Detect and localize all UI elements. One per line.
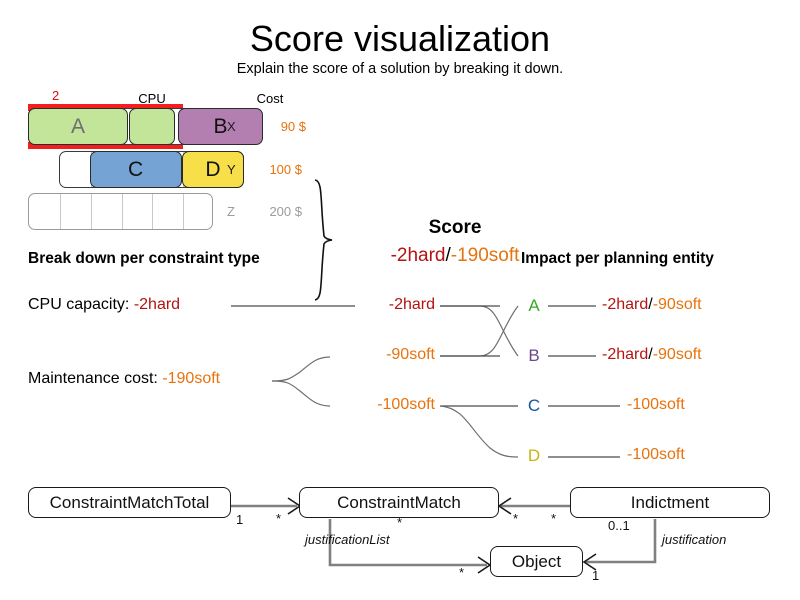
entity-impact-d-soft: -100soft (627, 446, 685, 463)
constraint-maintenance-cost-name: Maintenance cost: (28, 370, 162, 387)
entity-label-c: C (524, 396, 544, 416)
machine-bar-z (28, 193, 213, 230)
entity-impact-a-hard: -2hard (602, 296, 648, 313)
process-c[interactable]: C (90, 151, 182, 188)
entity-impact-d: -100soft (627, 446, 685, 464)
entity-impact-a: -2hard/-90soft (602, 296, 702, 314)
process-a[interactable]: A (28, 108, 128, 145)
constraint-cpu-capacity-name: CPU capacity: (28, 296, 134, 313)
constraint-maintenance-cost-score: -190soft (162, 370, 220, 387)
uml-class-constraint-match[interactable]: ConstraintMatch (299, 487, 499, 518)
uml-class-object[interactable]: Object (490, 546, 583, 577)
uml-role-justification: justification (662, 532, 726, 547)
constraint-cpu-capacity: CPU capacity: -2hard (28, 296, 180, 314)
process-a-overflow[interactable] (129, 108, 175, 145)
page-subtitle: Explain the score of a solution by break… (0, 60, 800, 78)
overload-count-label: 2 (52, 88, 59, 103)
machine-cost-x: 90 $ (252, 119, 306, 134)
machine-cost-y: 100 $ (248, 162, 302, 177)
entity-label-a: A (524, 296, 544, 316)
uml-multiplicity-cm-object-source: * (397, 515, 402, 530)
match-total-maintenance-100: -100soft (305, 396, 435, 414)
machine-cost-z: 200 $ (248, 204, 302, 219)
uml-multiplicity-cmt-target: * (276, 511, 281, 526)
uml-class-indictment[interactable]: Indictment (570, 487, 770, 518)
score-label: Score (330, 216, 580, 240)
cost-column-header: Cost (235, 91, 305, 106)
match-total-cpu-capacity: -2hard (305, 296, 435, 314)
uml-multiplicity-indictment-object-source: 0..1 (608, 518, 630, 533)
constraint-cpu-capacity-score: -2hard (134, 296, 180, 313)
machine-name-x: X (227, 119, 236, 134)
entity-label-d: D (524, 446, 544, 466)
entity-impact-b: -2hard/-90soft (602, 346, 702, 364)
entity-impact-b-soft: -90soft (653, 346, 702, 363)
breakdown-section-heading: Break down per constraint type (28, 250, 260, 268)
entity-impact-b-hard: -2hard (602, 346, 648, 363)
page-title: Score visualization (0, 18, 800, 60)
impact-section-heading: Impact per planning entity (521, 250, 714, 268)
machine-name-z: Z (227, 204, 235, 219)
score-hard-value: -2hard (391, 245, 446, 266)
entity-label-b: B (524, 346, 544, 366)
uml-multiplicity-indictment-object-target: 1 (592, 568, 599, 583)
uml-role-justification-list: justificationList (305, 532, 390, 547)
computers-panel: CPU Cost 2 A B X 90 $ C D Y 100 $ (0, 80, 520, 230)
uml-multiplicity-indictment-source: * (551, 511, 556, 526)
match-total-maintenance-90: -90soft (305, 346, 435, 364)
process-b[interactable]: B (178, 108, 263, 145)
score-soft-value: -190soft (451, 245, 520, 266)
uml-multiplicity-cmt-source: 1 (236, 512, 243, 527)
machine-cell-grid-z (29, 194, 212, 229)
machine-name-y: Y (227, 162, 236, 177)
entity-impact-a-soft: -90soft (653, 296, 702, 313)
uml-multiplicity-cm-object-target: * (459, 565, 464, 580)
constraint-maintenance-cost: Maintenance cost: -190soft (28, 370, 220, 388)
uml-class-constraint-match-total[interactable]: ConstraintMatchTotal (28, 487, 231, 518)
entity-impact-c: -100soft (627, 396, 685, 414)
uml-multiplicity-indictment-target: * (513, 511, 518, 526)
entity-impact-c-soft: -100soft (627, 396, 685, 413)
